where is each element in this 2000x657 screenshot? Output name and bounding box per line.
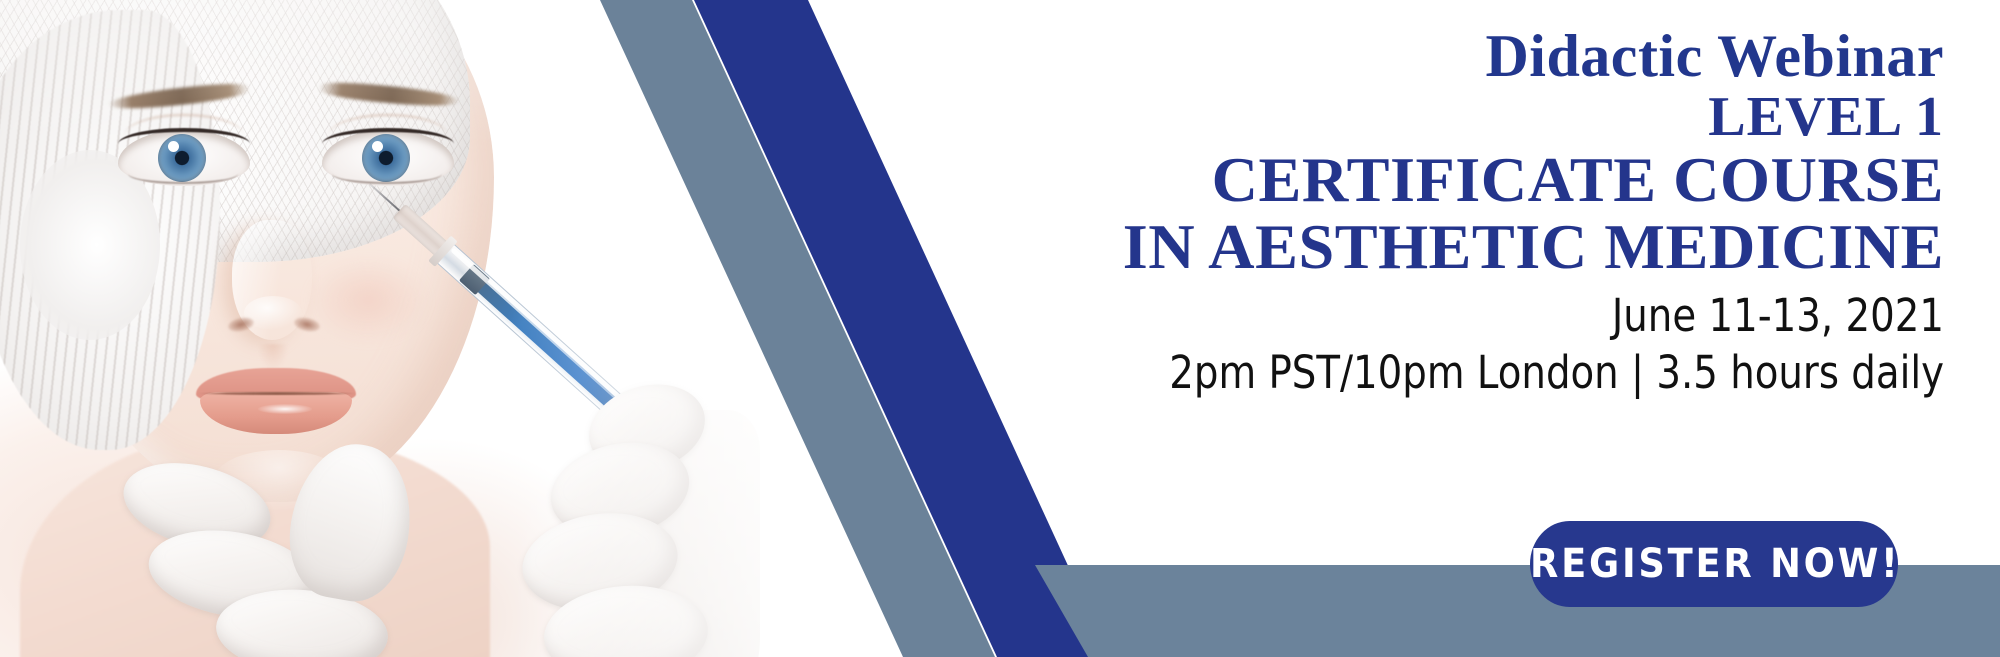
gloved-hand-chin bbox=[120, 420, 420, 657]
model-photo bbox=[0, 0, 880, 657]
lip-line bbox=[198, 392, 356, 395]
philtrum bbox=[258, 344, 288, 370]
course-title-line-1: CERTIFICATE COURSE bbox=[740, 148, 1944, 212]
eye-left bbox=[118, 130, 250, 186]
gloved-hand-holding-syringe bbox=[470, 380, 720, 657]
lip-highlight bbox=[258, 404, 312, 414]
course-title-line-2: IN AESTHETIC MEDICINE bbox=[740, 215, 1944, 279]
level-title: LEVEL 1 bbox=[764, 89, 1944, 146]
headline-block: Didactic Webinar LEVEL 1 CERTIFICATE COU… bbox=[764, 26, 1944, 398]
eyelash-lower-right bbox=[332, 174, 442, 184]
eye-right bbox=[322, 130, 454, 186]
eyebrow-title: Didactic Webinar bbox=[764, 26, 1944, 87]
event-schedule: 2pm PST/10pm London | 3.5 hours daily bbox=[929, 347, 1944, 398]
event-dates: June 11-13, 2021 bbox=[929, 291, 1944, 341]
cheek-right bbox=[308, 258, 428, 342]
register-now-button[interactable]: REGISTER NOW! bbox=[1530, 521, 1898, 607]
eyelash-lower-left bbox=[128, 174, 238, 184]
webinar-promo-banner: Didactic Webinar LEVEL 1 CERTIFICATE COU… bbox=[0, 0, 2000, 657]
